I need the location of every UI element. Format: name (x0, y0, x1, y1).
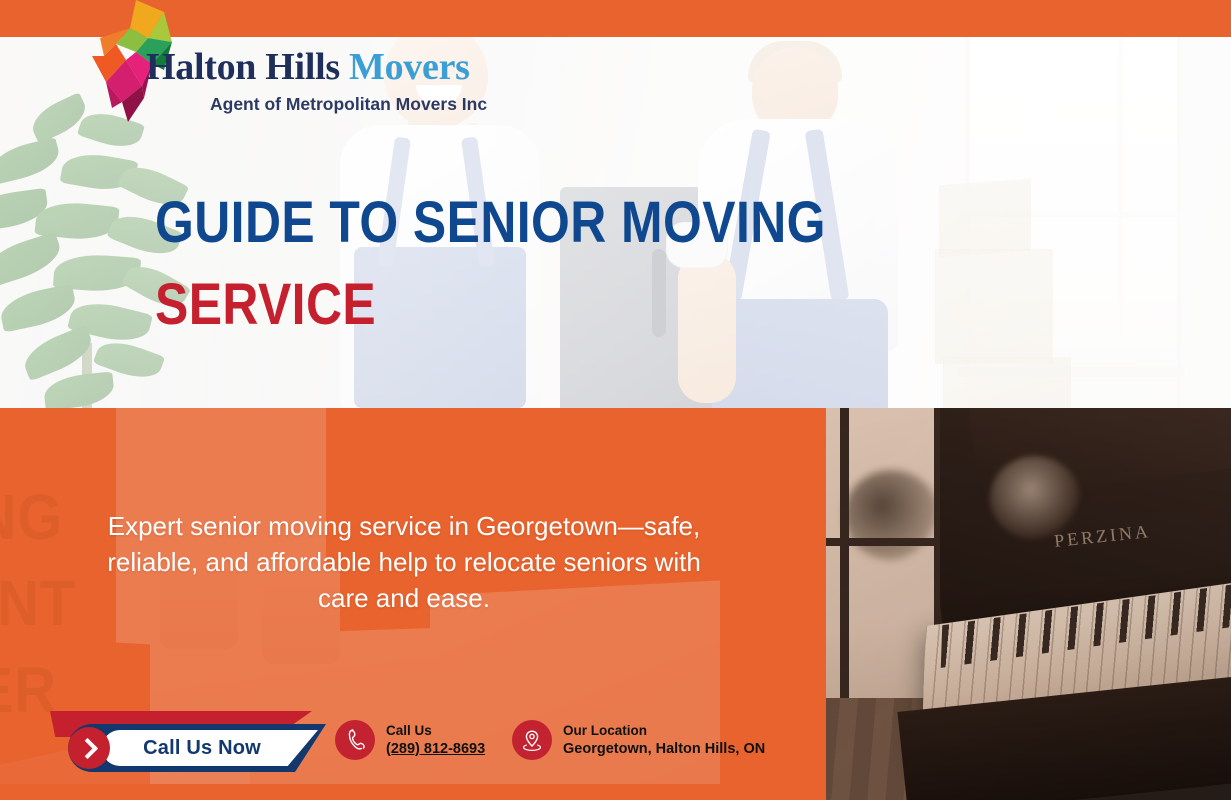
hero-headline: GUIDE TO SENIOR MOVING SERVICE (155, 182, 935, 347)
phone-icon (335, 720, 375, 760)
phone-label: Call Us (386, 722, 485, 740)
poster-page: GUIDE TO SENIOR MOVING SERVICE (0, 0, 1231, 800)
contact-phone[interactable]: Call Us (289) 812-8693 (335, 720, 485, 760)
piano-scene: PERZINA (822, 408, 1231, 800)
phone-text-block: Call Us (289) 812-8693 (386, 722, 485, 759)
logo-title: Halton Hills Movers (146, 48, 546, 86)
location-text-block: Our Location Georgetown, Halton Hills, O… (563, 722, 765, 759)
chevron-glyph (76, 737, 97, 758)
chevron-right-icon (68, 727, 110, 769)
call-us-now-button[interactable]: Call Us Now (46, 711, 326, 773)
cta-white-field: Call Us Now (102, 730, 318, 766)
bottom-orange-strip (0, 784, 822, 800)
headline-line-1: GUIDE TO SENIOR MOVING (155, 182, 826, 264)
contact-location[interactable]: Our Location Georgetown, Halton Hills, O… (512, 720, 765, 760)
piano-photo: PERZINA (822, 408, 1231, 800)
cta-label: Call Us Now (143, 737, 261, 760)
phone-number[interactable]: (289) 812-8693 (386, 740, 485, 759)
description-text: Expert senior moving service in Georgeto… (100, 508, 708, 616)
logo-tagline: Agent of Metropolitan Movers Inc (210, 94, 546, 115)
location-label: Our Location (563, 722, 765, 740)
headline-line-2: SERVICE (155, 264, 826, 346)
brand-logo[interactable]: Halton Hills Movers Agent of Metropolita… (86, 0, 506, 138)
logo-name-part2: Movers (349, 46, 470, 88)
sepia-overlay (822, 408, 1231, 800)
orange-content-panel: ING ENT IER Expert senior moving service… (0, 408, 822, 800)
panel-divider-strip (822, 408, 826, 800)
location-pin-icon (512, 720, 552, 760)
logo-wordmark: Halton Hills Movers Agent of Metropolita… (146, 48, 546, 115)
logo-name-part1: Halton Hills (146, 46, 340, 88)
location-value: Georgetown, Halton Hills, ON (563, 740, 765, 759)
bottom-section: ING ENT IER Expert senior moving service… (0, 408, 1231, 800)
